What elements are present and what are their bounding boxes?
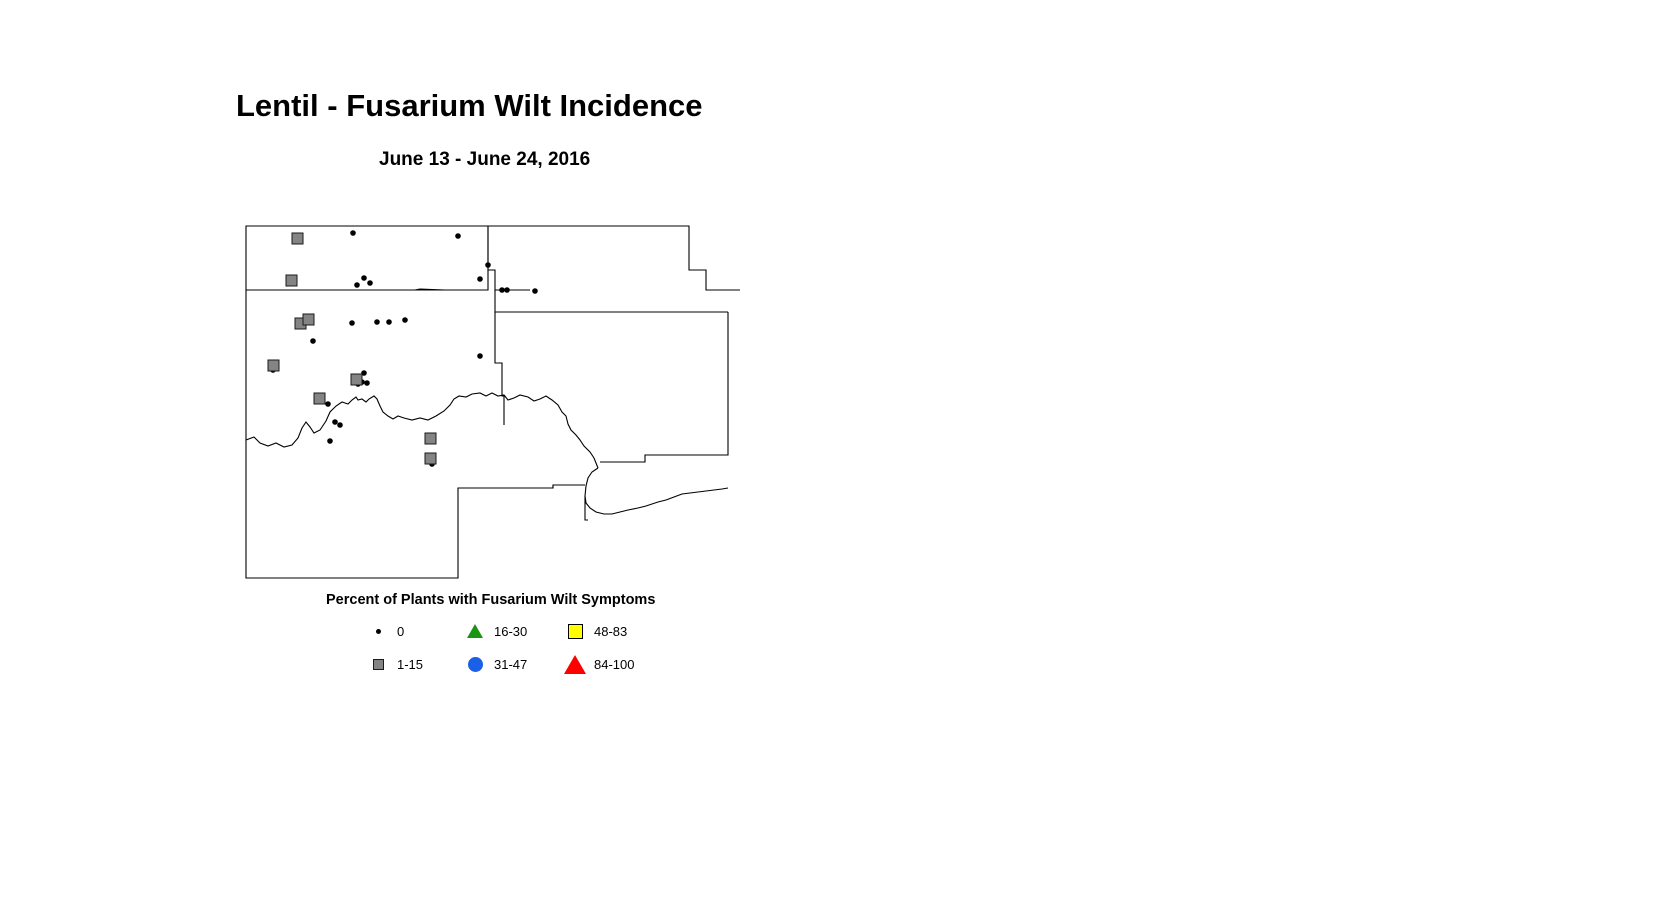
sample-point-square (351, 374, 362, 385)
sample-point (499, 287, 505, 293)
sample-point (364, 380, 370, 386)
sample-points-class-1-15[interactable] (268, 233, 436, 464)
sample-point (350, 230, 356, 236)
sample-point (477, 276, 483, 282)
legend-entry-48-83[interactable]: 48-83 (563, 621, 627, 641)
sample-point (386, 319, 392, 325)
legend-label: 84-100 (594, 657, 634, 672)
map-legend: Percent of Plants with Fusarium Wilt Sym… (326, 592, 686, 687)
sample-point (504, 287, 510, 293)
black-dot-icon (366, 621, 390, 641)
boundary-east-county-edge (600, 312, 728, 462)
sample-point (337, 422, 343, 428)
map-svg[interactable] (240, 200, 740, 595)
legend-label: 31-47 (494, 657, 527, 672)
boundary-south-step (458, 485, 585, 488)
sample-point (354, 282, 360, 288)
legend-entry-84-100[interactable]: 84-100 (563, 654, 634, 674)
legend-label: 16-30 (494, 624, 527, 639)
legend-label: 1-15 (397, 657, 423, 672)
legend-label: 0 (397, 624, 404, 639)
sample-point-square (286, 275, 297, 286)
gray-square-icon (366, 654, 390, 674)
boundary-mid-horizontal (246, 289, 488, 290)
yellow-square-icon (563, 621, 587, 641)
sample-point (332, 419, 338, 425)
legend-entry-31-47[interactable]: 31-47 (463, 654, 527, 674)
page-title: Lentil - Fusarium Wilt Incidence (236, 88, 703, 124)
map-canvas[interactable] (240, 200, 740, 595)
boundary-northwest-county (246, 226, 488, 290)
red-triangle-icon (563, 654, 587, 674)
sample-point (374, 319, 380, 325)
green-triangle-icon (463, 621, 487, 641)
sample-point (455, 233, 461, 239)
sample-point (477, 353, 483, 359)
sample-point (310, 338, 316, 344)
boundary-west-outer (246, 290, 553, 578)
sample-point (361, 275, 367, 281)
boundary-northeast-county (488, 226, 740, 290)
sample-point-square (268, 360, 279, 371)
sample-point-square (314, 393, 325, 404)
legend-entry-0[interactable]: 0 (366, 621, 404, 641)
page-subtitle: June 13 - June 24, 2016 (379, 149, 590, 171)
legend-entry-16-30[interactable]: 16-30 (463, 621, 527, 641)
sample-point (367, 280, 373, 286)
boundary-southeast-step (585, 496, 588, 520)
sample-point-square (425, 453, 436, 464)
boundary-river-line (246, 393, 598, 468)
sample-point (402, 317, 408, 323)
sample-points-class-0[interactable] (270, 230, 538, 467)
sample-point (327, 438, 333, 444)
map-figure: Lentil - Fusarium Wilt Incidence June 13… (0, 0, 1673, 900)
sample-point (325, 401, 331, 407)
blue-circle-icon (463, 654, 487, 674)
sample-point (485, 262, 491, 268)
boundary-central-lower-vertical (495, 312, 504, 425)
sample-point-square (303, 314, 314, 325)
sample-point-square (292, 233, 303, 244)
sample-point-square (425, 433, 436, 444)
legend-title: Percent of Plants with Fusarium Wilt Sym… (326, 592, 655, 608)
legend-entry-1-15[interactable]: 1-15 (366, 654, 423, 674)
boundary-central-vertical (495, 290, 728, 312)
boundary-north-central-county (488, 226, 530, 290)
sample-point (532, 288, 538, 294)
boundary-river-southeast (585, 468, 728, 514)
sample-point (349, 320, 355, 326)
legend-label: 48-83 (594, 624, 627, 639)
